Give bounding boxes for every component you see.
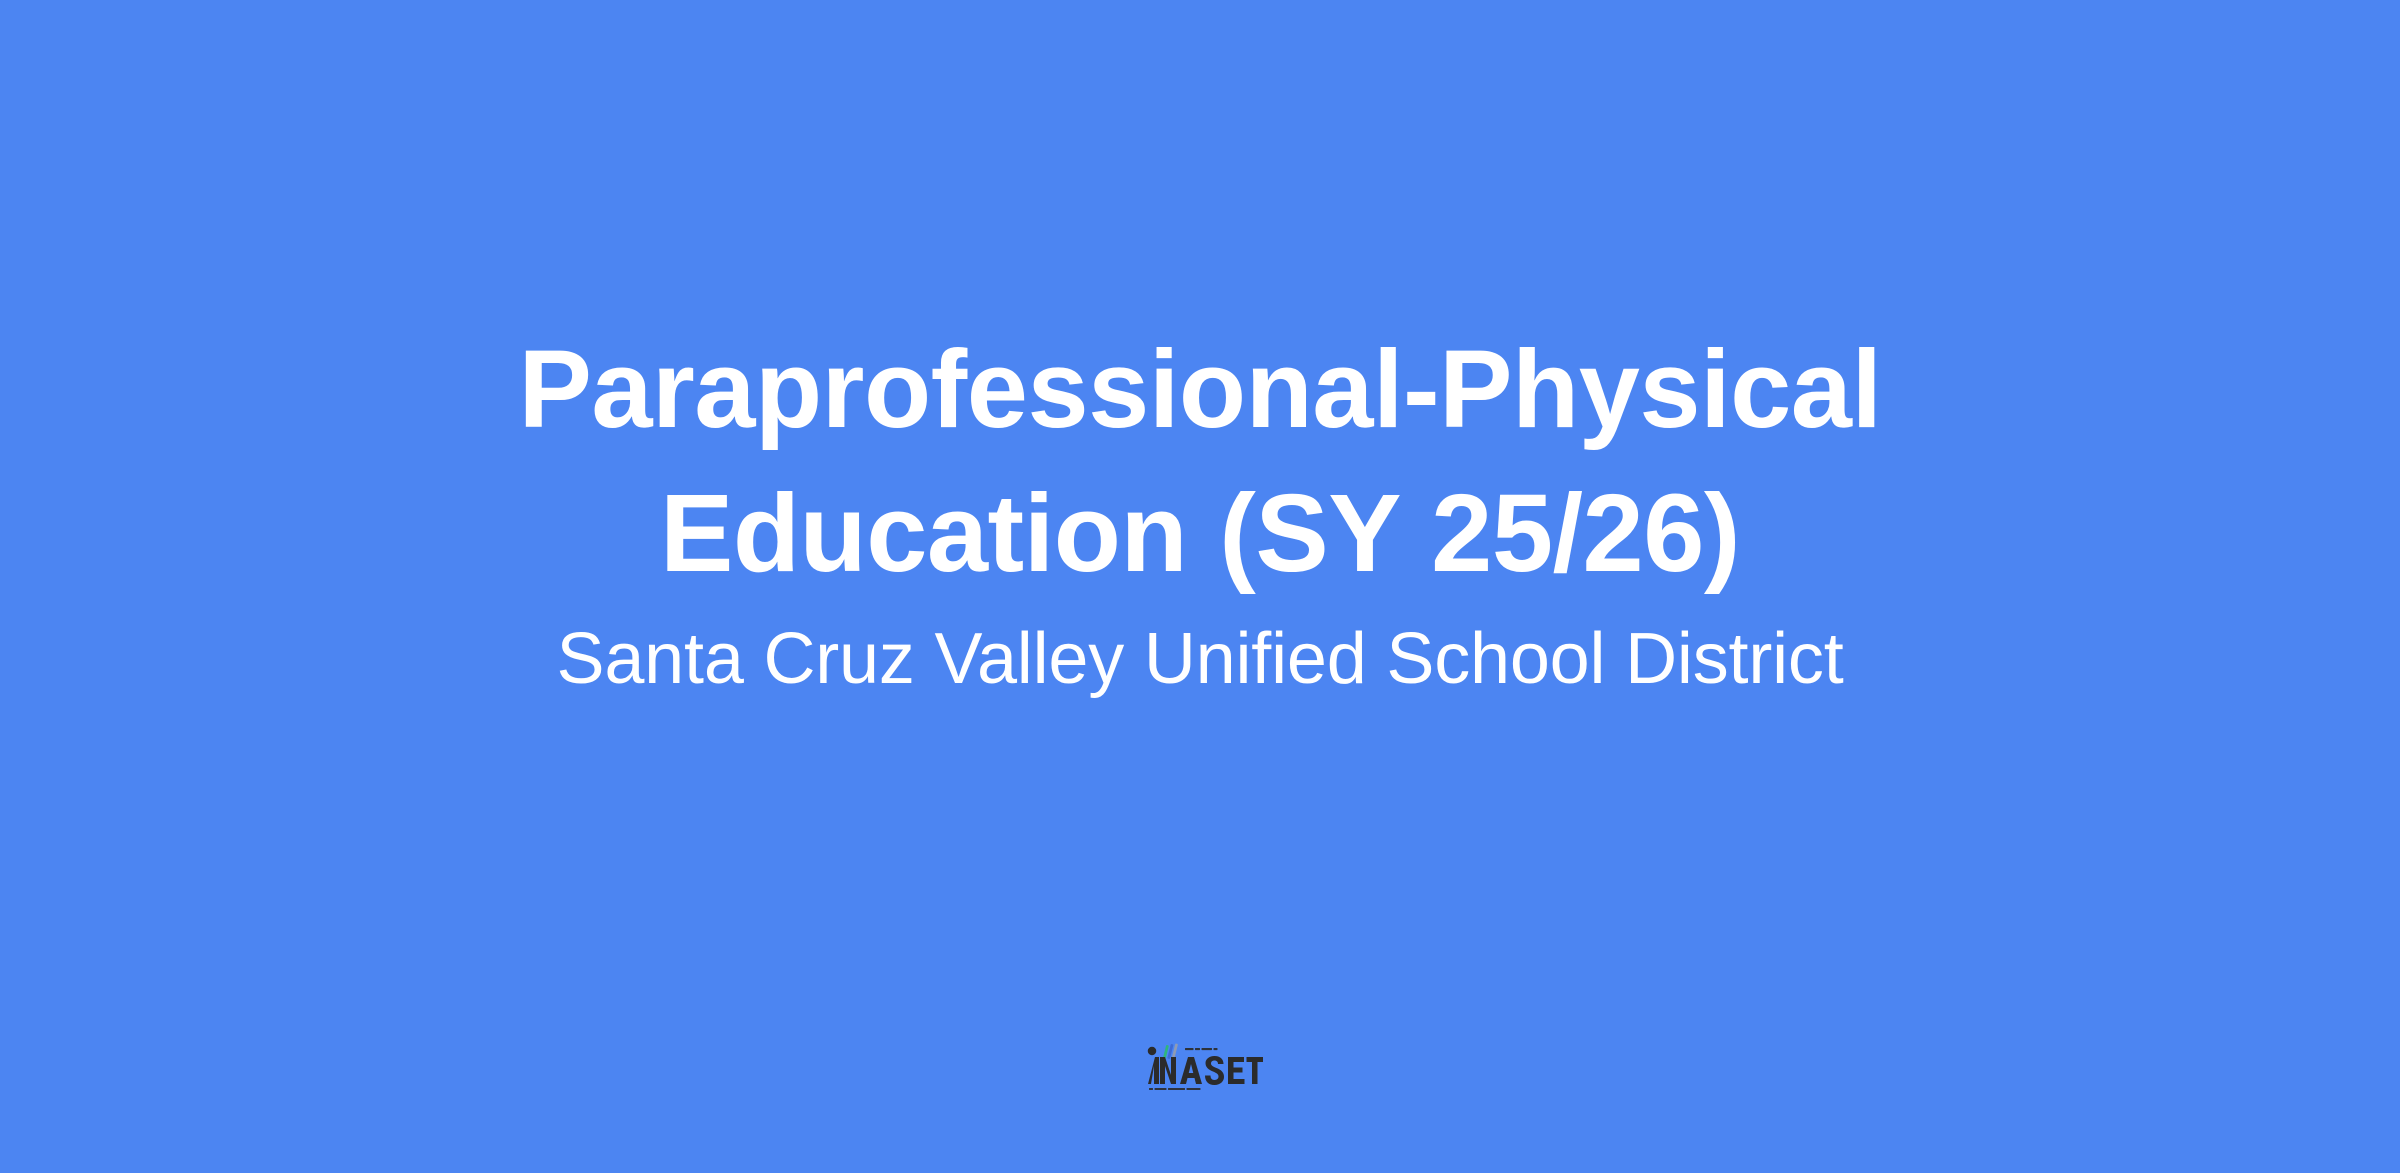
naset-logo bbox=[1137, 1038, 1263, 1092]
page-title: Paraprofessional-Physical Education (SY … bbox=[240, 318, 2160, 606]
heading-block: Paraprofessional-Physical Education (SY … bbox=[0, 318, 2400, 703]
logo-wordmark bbox=[1148, 1056, 1263, 1085]
logo-accent-stripes bbox=[1163, 1043, 1178, 1059]
logo-line-above bbox=[1185, 1048, 1218, 1050]
page-subtitle: Santa Cruz Valley Unified School Distric… bbox=[240, 616, 2160, 702]
logo-figure-head bbox=[1148, 1047, 1157, 1056]
title-card: Paraprofessional-Physical Education (SY … bbox=[0, 0, 2400, 1173]
page-title-line-2: Education (SY 25/26) bbox=[660, 472, 1740, 595]
page-title-line-1: Paraprofessional-Physical bbox=[518, 328, 1881, 451]
logo-line-below bbox=[1149, 1088, 1201, 1090]
